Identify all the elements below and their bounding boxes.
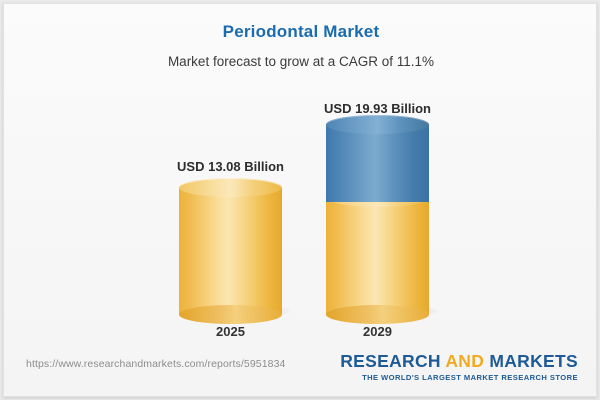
value-label-2025: USD 13.08 Billion [128,159,333,174]
cylinder-2029[interactable] [326,124,429,314]
segment-bottom-cap [326,305,429,324]
chart-plot-area: USD 13.08 Billion 2025 USD 19.93 Billion [4,4,597,397]
logo-word-and: AND [445,351,484,371]
category-label-2029: 2029 [326,324,429,339]
segment-base-2029 [326,197,429,314]
segment-body [326,197,429,314]
segment-base-2025 [179,187,282,314]
logo-word-research: RESEARCH [340,351,441,371]
segment-body [179,187,282,314]
chart-card: Periodontal Market Market forecast to gr… [3,3,597,397]
value-label-2029: USD 19.93 Billion [275,101,480,116]
logo-word-markets: MARKETS [489,351,578,371]
segment-top-cap [326,115,429,134]
logo-tagline: THE WORLD'S LARGEST MARKET RESEARCH STOR… [340,372,578,383]
logo-wordmark: RESEARCH AND MARKETS [340,351,578,371]
category-label-2025: 2025 [179,324,282,339]
brand-logo[interactable]: RESEARCH AND MARKETS THE WORLD'S LARGEST… [340,351,578,383]
cylinder-2025[interactable] [179,187,282,314]
segment-growth-2029 [326,124,429,202]
segment-body [326,124,429,202]
report-url[interactable]: https://www.researchandmarkets.com/repor… [26,358,285,370]
segment-top-cap [179,178,282,197]
chart-footer: https://www.researchandmarkets.com/repor… [4,350,597,396]
segment-bottom-cap [179,305,282,324]
